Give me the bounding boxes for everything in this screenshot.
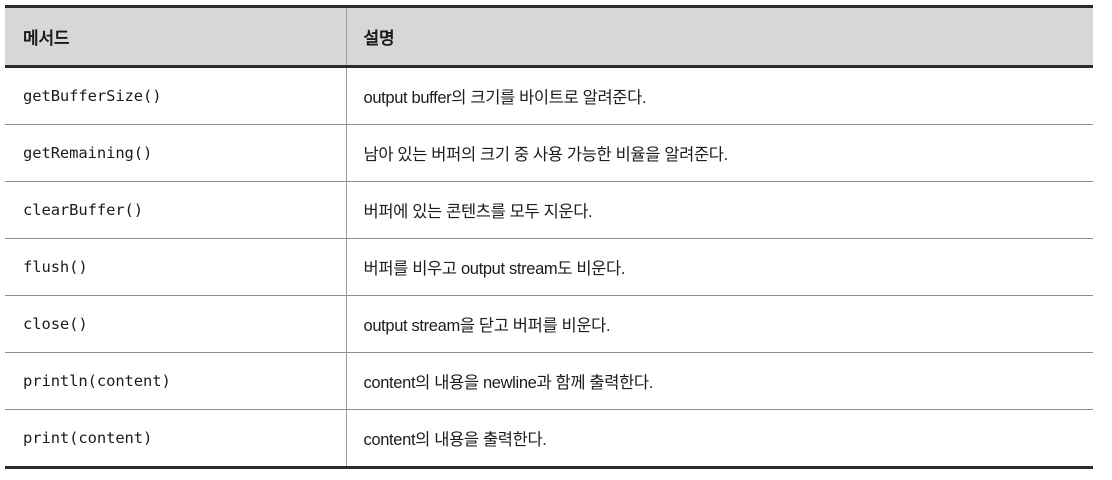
table-row: getRemaining() 남아 있는 버퍼의 크기 중 사용 가능한 비율을… (5, 125, 1093, 182)
table-row: println(content) content의 내용을 newline과 함… (5, 353, 1093, 410)
column-header-description: 설명 (346, 7, 1093, 67)
cell-method: flush() (5, 239, 346, 296)
table-row: flush() 버퍼를 비우고 output stream도 비운다. (5, 239, 1093, 296)
method-reference-table: 메서드 설명 getBufferSize() output buffer의 크기… (5, 5, 1093, 469)
cell-description: content의 내용을 출력한다. (346, 410, 1093, 468)
cell-description: output buffer의 크기를 바이트로 알려준다. (346, 67, 1093, 125)
table-row: getBufferSize() output buffer의 크기를 바이트로 … (5, 67, 1093, 125)
cell-method: clearBuffer() (5, 182, 346, 239)
cell-description: content의 내용을 newline과 함께 출력한다. (346, 353, 1093, 410)
cell-method: getBufferSize() (5, 67, 346, 125)
table-header: 메서드 설명 (5, 7, 1093, 67)
table-row: close() output stream을 닫고 버퍼를 비운다. (5, 296, 1093, 353)
cell-description: 남아 있는 버퍼의 크기 중 사용 가능한 비율을 알려준다. (346, 125, 1093, 182)
cell-method: print(content) (5, 410, 346, 468)
page-root: 메서드 설명 getBufferSize() output buffer의 크기… (0, 0, 1112, 480)
table-row: clearBuffer() 버퍼에 있는 콘텐츠를 모두 지운다. (5, 182, 1093, 239)
table-row: print(content) content의 내용을 출력한다. (5, 410, 1093, 468)
cell-description: 버퍼에 있는 콘텐츠를 모두 지운다. (346, 182, 1093, 239)
cell-method: getRemaining() (5, 125, 346, 182)
table-header-row: 메서드 설명 (5, 7, 1093, 67)
cell-description: output stream을 닫고 버퍼를 비운다. (346, 296, 1093, 353)
cell-method: close() (5, 296, 346, 353)
cell-description: 버퍼를 비우고 output stream도 비운다. (346, 239, 1093, 296)
table-body: getBufferSize() output buffer의 크기를 바이트로 … (5, 67, 1093, 468)
cell-method: println(content) (5, 353, 346, 410)
column-header-method: 메서드 (5, 7, 346, 67)
